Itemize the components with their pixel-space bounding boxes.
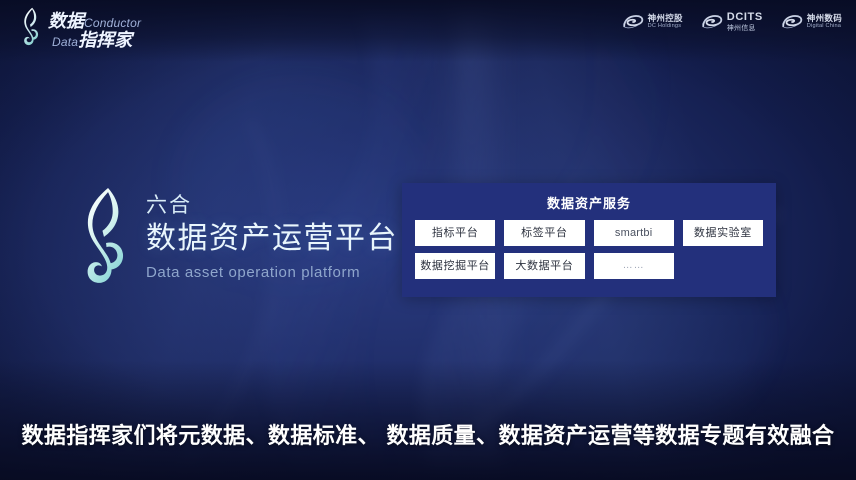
- data-asset-service-panel: 数据资产服务 指标平台 标签平台 smartbi 数据实验室 数据挖掘平台 大数…: [402, 183, 776, 297]
- platform-text: 六合 数据资产运营平台 Data asset operation platfor…: [146, 186, 398, 281]
- service-chip-data-mining-platform[interactable]: 数据挖掘平台: [415, 253, 495, 279]
- slide-stage: 数据Conductor Data指挥家 神州控股 DC Holdings: [0, 0, 856, 480]
- slide-caption: 数据指挥家们将元数据、数据标准、 数据质量、数据资产运营等数据专题有效融合: [0, 418, 856, 450]
- platform-title-block: 六合 数据资产运营平台 Data asset operation platfor…: [74, 186, 398, 298]
- header-bar: 数据Conductor Data指挥家 神州控股 DC Holdings: [0, 0, 856, 58]
- partner-name-cn: 神州控股: [648, 14, 683, 23]
- partner-name-en: 神州信息: [727, 25, 763, 32]
- partner-text: 神州数码 Digital China: [807, 14, 842, 30]
- brand-line1-cn: 数据: [48, 11, 84, 31]
- platform-subtitle-en: Data asset operation platform: [146, 264, 398, 281]
- service-chip-big-data-platform[interactable]: 大数据平台: [504, 253, 584, 279]
- panel-chip-grid: 指标平台 标签平台 smartbi 数据实验室 数据挖掘平台 大数据平台 ……: [402, 212, 776, 279]
- brand-wordmark: 数据Conductor Data指挥家: [48, 7, 168, 51]
- treble-clef-icon: [74, 186, 136, 298]
- partner-logo-dc-holdings[interactable]: 神州控股 DC Holdings: [622, 13, 683, 31]
- service-chip-tag-platform[interactable]: 标签平台: [504, 220, 584, 246]
- partner-name-cn: DCITS: [727, 12, 763, 23]
- brand-line1-en: Conductor: [84, 16, 141, 30]
- brand-logo[interactable]: 数据Conductor Data指挥家: [16, 6, 168, 52]
- platform-title: 数据资产运营平台: [146, 220, 398, 258]
- brand-line2-cn: 指挥家: [78, 30, 132, 50]
- panel-title: 数据资产服务: [402, 183, 776, 212]
- treble-clef-icon: [16, 7, 46, 51]
- service-chip-smartbi[interactable]: smartbi: [594, 220, 674, 246]
- partner-text: 神州控股 DC Holdings: [648, 14, 683, 30]
- swirl-mark-icon: [701, 13, 723, 31]
- partner-logo-dcits[interactable]: DCITS 神州信息: [701, 12, 763, 32]
- platform-eyebrow: 六合: [146, 194, 398, 219]
- swirl-mark-icon: [781, 13, 803, 31]
- service-chip-metric-platform[interactable]: 指标平台: [415, 220, 495, 246]
- panel-row: 数据挖掘平台 大数据平台 ……: [415, 253, 763, 279]
- service-chip-data-lab[interactable]: 数据实验室: [683, 220, 763, 246]
- partner-name-en: Digital China: [807, 24, 842, 30]
- partner-logo-group: 神州控股 DC Holdings DCITS 神州信息: [622, 12, 842, 32]
- partner-name-cn: 神州数码: [807, 14, 842, 23]
- panel-row: 指标平台 标签平台 smartbi 数据实验室: [415, 220, 763, 246]
- service-chip-more[interactable]: ……: [594, 253, 674, 279]
- partner-text: DCITS 神州信息: [727, 12, 763, 32]
- partner-logo-digital-china[interactable]: 神州数码 Digital China: [781, 13, 842, 31]
- brand-line2-en: Data: [52, 35, 78, 49]
- swirl-mark-icon: [622, 13, 644, 31]
- partner-name-en: DC Holdings: [648, 24, 683, 30]
